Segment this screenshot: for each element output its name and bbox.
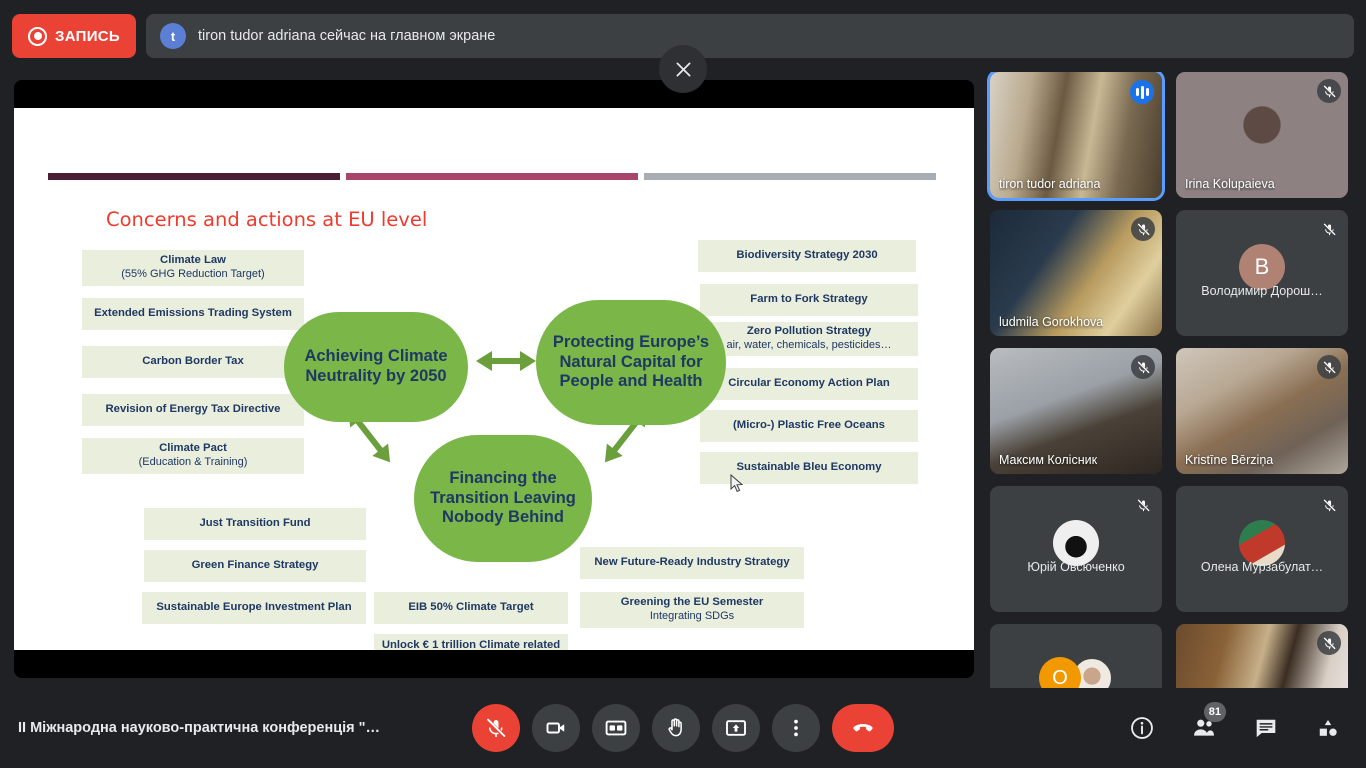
- participant-name: Kristīne Bērziņa: [1185, 453, 1273, 467]
- participant-tile[interactable]: tiron tudor adriana: [990, 72, 1162, 198]
- camera-button[interactable]: [532, 704, 580, 752]
- microphone-off-icon: [1322, 360, 1337, 375]
- bottom-bar: II Міжнародна науково-практична конферен…: [0, 688, 1366, 768]
- slide-box-label: Revision of Energy Tax Directive: [106, 403, 281, 417]
- mic-off-badge: [1317, 217, 1341, 241]
- slide-box-label: Biodiversity Strategy 2030: [736, 249, 877, 263]
- info-icon: [1129, 715, 1155, 741]
- participant-tile[interactable]: Юрій Овсюченко: [990, 486, 1162, 612]
- slide-box-label: Just Transition Fund: [199, 517, 310, 531]
- slide-box-label: Climate Pact: [159, 442, 227, 456]
- recording-label: ЗАПИСЬ: [55, 28, 120, 45]
- right-controls: 81: [1122, 708, 1348, 748]
- activities-icon: [1315, 715, 1341, 741]
- microphone-off-icon: [1136, 360, 1151, 375]
- slide-box-label: Farm to Fork Strategy: [750, 293, 867, 307]
- slide-box: New Future-Ready Industry Strategy: [580, 547, 804, 579]
- participant-name: Irina Kolupaieva: [1185, 177, 1275, 191]
- present-screen-icon: [724, 716, 748, 740]
- meet-window: ЗАПИСЬ t tiron tudor adriana сейчас на г…: [0, 0, 1366, 768]
- slide-box-label: Greening the EU Semester: [621, 596, 764, 610]
- slide-box-sublabel: (55% GHG Reduction Target): [121, 268, 264, 281]
- mic-off-badge: [1131, 217, 1155, 241]
- meeting-title: II Міжнародна науково-практична конферен…: [18, 720, 380, 736]
- slide-box: Unlock € 1 trillion Climate related inve…: [374, 634, 568, 650]
- participant-name: Юрій Овсюченко: [990, 560, 1162, 574]
- slide-box-label: Unlock € 1 trillion Climate related inve…: [380, 639, 562, 650]
- slide-box-sublabel: Integrating SDGs: [650, 610, 734, 623]
- slide-box-label: Zero Pollution Strategy: [747, 325, 871, 339]
- slide-box-label: Climate Law: [160, 254, 226, 268]
- participants-count-badge: 81: [1204, 702, 1226, 722]
- slide-box: Sustainable Europe Investment Plan: [142, 592, 366, 624]
- slide-box: Carbon Border Tax: [82, 346, 304, 378]
- participant-tile[interactable]: Kristīne Bērziņa: [1176, 348, 1348, 474]
- presenting-banner[interactable]: t tiron tudor adriana сейчас на главном …: [146, 14, 1354, 58]
- mic-off-badge: [1317, 631, 1341, 655]
- captions-button[interactable]: [592, 704, 640, 752]
- mouse-cursor: [730, 474, 744, 493]
- close-presentation-button[interactable]: [659, 45, 707, 93]
- more-options-button[interactable]: [772, 704, 820, 752]
- microphone-off-icon: [1322, 222, 1337, 237]
- meeting-details-button[interactable]: [1122, 708, 1162, 748]
- accent-bar-1: [346, 173, 638, 180]
- participant-tile[interactable]: Irina Kolupaieva: [1176, 72, 1348, 198]
- more-vertical-icon: [784, 716, 808, 740]
- slide-box: Climate Law(55% GHG Reduction Target): [82, 250, 304, 286]
- activities-button[interactable]: [1308, 708, 1348, 748]
- participant-tile[interactable]: ВВолодимир Дорош…: [1176, 210, 1348, 336]
- slide-box-label: Sustainable Europe Investment Plan: [156, 601, 351, 615]
- slide-box: Farm to Fork Strategy: [700, 284, 918, 316]
- present-screen-button[interactable]: [712, 704, 760, 752]
- slide-box: Just Transition Fund: [144, 508, 366, 540]
- slide-box: EIB 50% Climate Target: [374, 592, 568, 624]
- slide-title: Concerns and actions at EU level: [106, 208, 427, 231]
- mic-off-badge: [1317, 79, 1341, 103]
- slide-box: Zero Pollution Strategyair, water, chemi…: [700, 322, 918, 356]
- raise-hand-icon: [664, 716, 688, 740]
- slide-box: Extended Emissions Trading System: [82, 298, 304, 330]
- presenter-avatar: t: [160, 23, 186, 49]
- participant-name: Максим Колісник: [999, 453, 1097, 467]
- participant-tile[interactable]: Олена Мурзабулат…: [1176, 486, 1348, 612]
- slide-box-label: Circular Economy Action Plan: [728, 377, 890, 391]
- recording-indicator-button[interactable]: ЗАПИСЬ: [12, 14, 136, 58]
- slide-canvas: Concerns and actions at EU level Climate…: [14, 108, 974, 650]
- slide-box: Revision of Energy Tax Directive: [82, 394, 304, 426]
- raise-hand-button[interactable]: [652, 704, 700, 752]
- microphone-off-icon: [1322, 498, 1337, 513]
- accent-bar-0: [48, 173, 340, 180]
- slide-box: (Micro-) Plastic Free Oceans: [700, 410, 918, 442]
- chat-button[interactable]: [1246, 708, 1286, 748]
- slide-box: Greening the EU SemesterIntegrating SDGs: [580, 592, 804, 628]
- captions-icon: [604, 716, 628, 740]
- participant-name: tiron tudor adriana: [999, 177, 1100, 191]
- slide-box-label: Carbon Border Tax: [142, 355, 243, 369]
- microphone-off-icon: [1322, 636, 1337, 651]
- participant-tile[interactable]: Максим Колісник: [990, 348, 1162, 474]
- slide-bubble: Financing the Transition Leaving Nobody …: [414, 435, 592, 562]
- participant-grid: tiron tudor adrianaIrina Kolupaievaludmi…: [990, 72, 1362, 682]
- microphone-off-icon: [484, 716, 508, 740]
- participants-button[interactable]: 81: [1184, 708, 1224, 748]
- mic-off-badge: [1131, 493, 1155, 517]
- slide-box-label: EIB 50% Climate Target: [408, 601, 533, 615]
- slide-box-sublabel: (Education & Training): [139, 456, 248, 469]
- leave-call-button[interactable]: [832, 704, 894, 752]
- presenting-text: tiron tudor adriana сейчас на главном эк…: [198, 28, 495, 44]
- mic-off-badge: [1317, 355, 1341, 379]
- mic-off-badge: [1317, 493, 1341, 517]
- slide-box-label: (Micro-) Plastic Free Oceans: [733, 419, 885, 433]
- slide-box: Circular Economy Action Plan: [700, 368, 918, 400]
- mic-off-badge: [1131, 355, 1155, 379]
- participant-name: Володимир Дорош…: [1176, 284, 1348, 298]
- close-icon: [673, 59, 694, 80]
- participant-name: ludmila Gorokhova: [999, 315, 1103, 329]
- slide-box: Climate Pact(Education & Training): [82, 438, 304, 474]
- presentation-stage[interactable]: Concerns and actions at EU level Climate…: [14, 80, 974, 678]
- slide-accent-bars: [48, 173, 936, 180]
- microphone-off-icon: [1322, 84, 1337, 99]
- chat-icon: [1253, 715, 1279, 741]
- slide-box-label: Green Finance Strategy: [192, 559, 319, 573]
- slide-box: Biodiversity Strategy 2030: [698, 240, 916, 272]
- camera-icon: [544, 716, 568, 740]
- slide-box-label: Extended Emissions Trading System: [94, 307, 292, 321]
- hangup-icon: [849, 714, 877, 742]
- slide-bubble: Protecting Europe’s Natural Capital for …: [536, 300, 726, 425]
- participant-name: Олена Мурзабулат…: [1176, 560, 1348, 574]
- participant-tile[interactable]: ludmila Gorokhova: [990, 210, 1162, 336]
- slide-box-label: Sustainable Bleu Economy: [736, 461, 881, 475]
- call-controls: [472, 704, 894, 752]
- slide-bubble: Achieving Climate Neutrality by 2050: [284, 312, 468, 422]
- accent-bar-2: [644, 173, 936, 180]
- microphone-off-icon: [1136, 498, 1151, 513]
- speaking-indicator: [1130, 80, 1154, 104]
- record-dot-icon: [28, 27, 47, 46]
- microphone-muted-button[interactable]: [472, 704, 520, 752]
- slide-box-sublabel: air, water, chemicals, pesticides…: [726, 339, 891, 352]
- slide-box: Green Finance Strategy: [144, 550, 366, 582]
- microphone-off-icon: [1136, 222, 1151, 237]
- slide-box-label: New Future-Ready Industry Strategy: [594, 556, 789, 570]
